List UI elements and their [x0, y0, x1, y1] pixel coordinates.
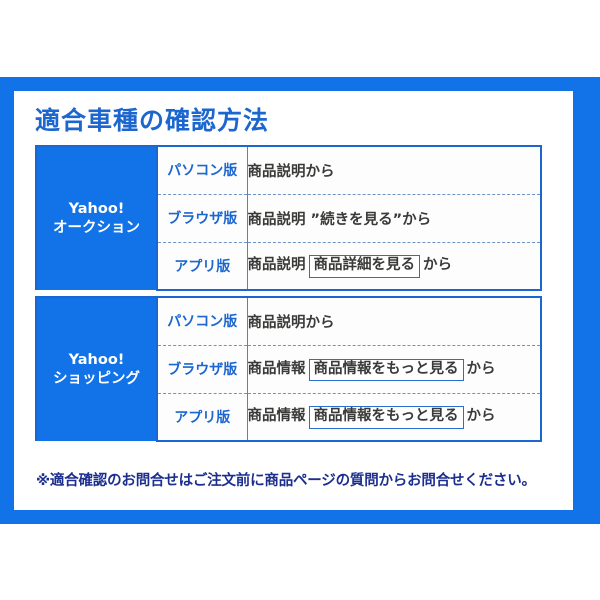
how-to-cell: 商品説明から: [247, 146, 541, 194]
content-panel: 適合車種の確認方法 Yahoo! オークション パソコン版 商品説明から: [14, 91, 573, 510]
brand-line-2: オークション: [37, 219, 156, 237]
how-to-cell: 商品説明から: [247, 297, 541, 345]
brand-line-1: Yahoo!: [37, 200, 156, 218]
how-prefix: 商品情報: [248, 408, 306, 424]
table-yahoo-shopping: Yahoo! ショッピング パソコン版 商品説明から ブラウザ版 商品情報商品情…: [35, 296, 542, 442]
table-row: Yahoo! オークション パソコン版 商品説明から: [36, 146, 541, 194]
how-prefix: 商品情報: [248, 361, 306, 377]
brand-cell-auction: Yahoo! オークション: [36, 146, 157, 290]
brand-line-1: Yahoo!: [37, 351, 156, 369]
how-prefix: 商品説明: [248, 257, 306, 273]
in-app-button-label[interactable]: 商品情報をもっと見る: [309, 406, 464, 429]
in-app-button-label[interactable]: 商品情報をもっと見る: [309, 359, 464, 382]
how-suffix: から: [423, 257, 452, 273]
device-label: ブラウザ版: [157, 194, 247, 242]
device-label: アプリ版: [157, 242, 247, 290]
table-yahoo-auction: Yahoo! オークション パソコン版 商品説明から ブラウザ版 商品説明 ”続…: [35, 145, 542, 291]
how-prefix: 商品説明から: [248, 164, 335, 180]
device-label: パソコン版: [157, 297, 247, 345]
in-app-button-label[interactable]: 商品詳細を見る: [309, 255, 421, 278]
how-to-cell: 商品情報商品情報をもっと見るから: [247, 393, 541, 441]
page-title: 適合車種の確認方法: [35, 101, 269, 137]
how-prefix: 商品説明から: [248, 315, 335, 331]
compatibility-table-wrapper: Yahoo! オークション パソコン版 商品説明から ブラウザ版 商品説明 ”続…: [35, 145, 540, 442]
footnote-note: ※適合確認のお問合せはご注文前に商品ページの質問からお問合せください。: [36, 469, 536, 490]
how-suffix: から: [467, 361, 496, 377]
how-to-cell: 商品情報商品情報をもっと見るから: [247, 345, 541, 393]
how-to-cell: 商品説明 ”続きを見る”から: [247, 194, 541, 242]
device-label: ブラウザ版: [157, 345, 247, 393]
device-label: アプリ版: [157, 393, 247, 441]
table-row: Yahoo! ショッピング パソコン版 商品説明から: [36, 297, 541, 345]
brand-cell-shopping: Yahoo! ショッピング: [36, 297, 157, 441]
how-suffix: から: [467, 408, 496, 424]
screenshot-canvas: 適合車種の確認方法 Yahoo! オークション パソコン版 商品説明から: [0, 0, 600, 600]
device-label: パソコン版: [157, 146, 247, 194]
how-prefix: 商品説明 ”続きを見る”から: [248, 212, 432, 228]
how-to-cell: 商品説明商品詳細を見るから: [247, 242, 541, 290]
brand-line-2: ショッピング: [37, 370, 156, 388]
